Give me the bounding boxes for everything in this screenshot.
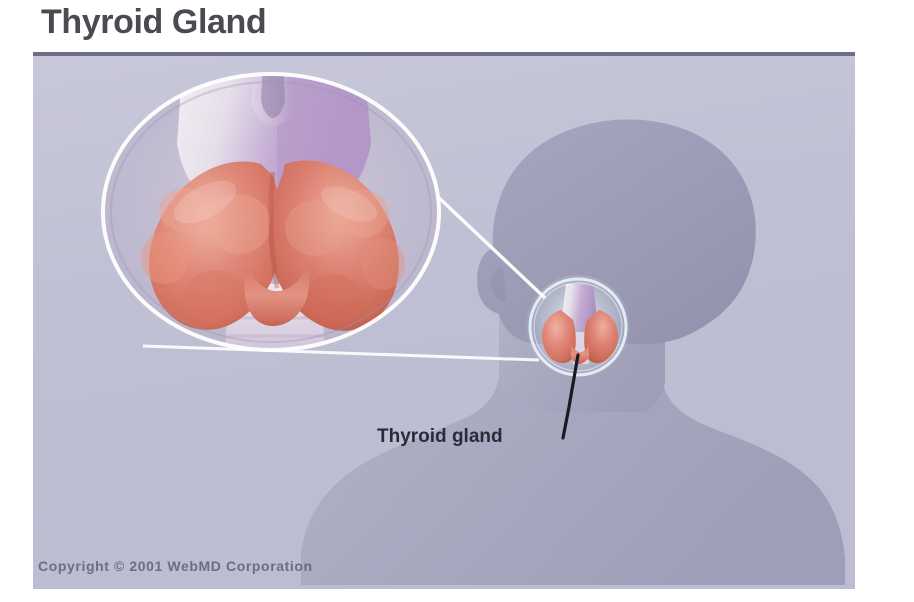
left-lobe-lobule-2 (141, 232, 189, 284)
figure-root: Thyroid Gland (0, 0, 914, 602)
illustration-panel: Thyroid gland (33, 52, 855, 589)
right-lobe-lobule-2 (361, 238, 405, 290)
copyright-notice: Copyright © 2001 WebMD Corporation (38, 558, 313, 574)
page-title: Thyroid Gland (41, 2, 266, 42)
panel-top-border (33, 52, 855, 56)
left-lobe-lobule-3 (185, 270, 245, 322)
callout-label: Thyroid gland (377, 426, 503, 447)
right-lobe-lobule-3 (303, 274, 363, 326)
thyroid-illustration: Thyroid gland (33, 52, 855, 589)
